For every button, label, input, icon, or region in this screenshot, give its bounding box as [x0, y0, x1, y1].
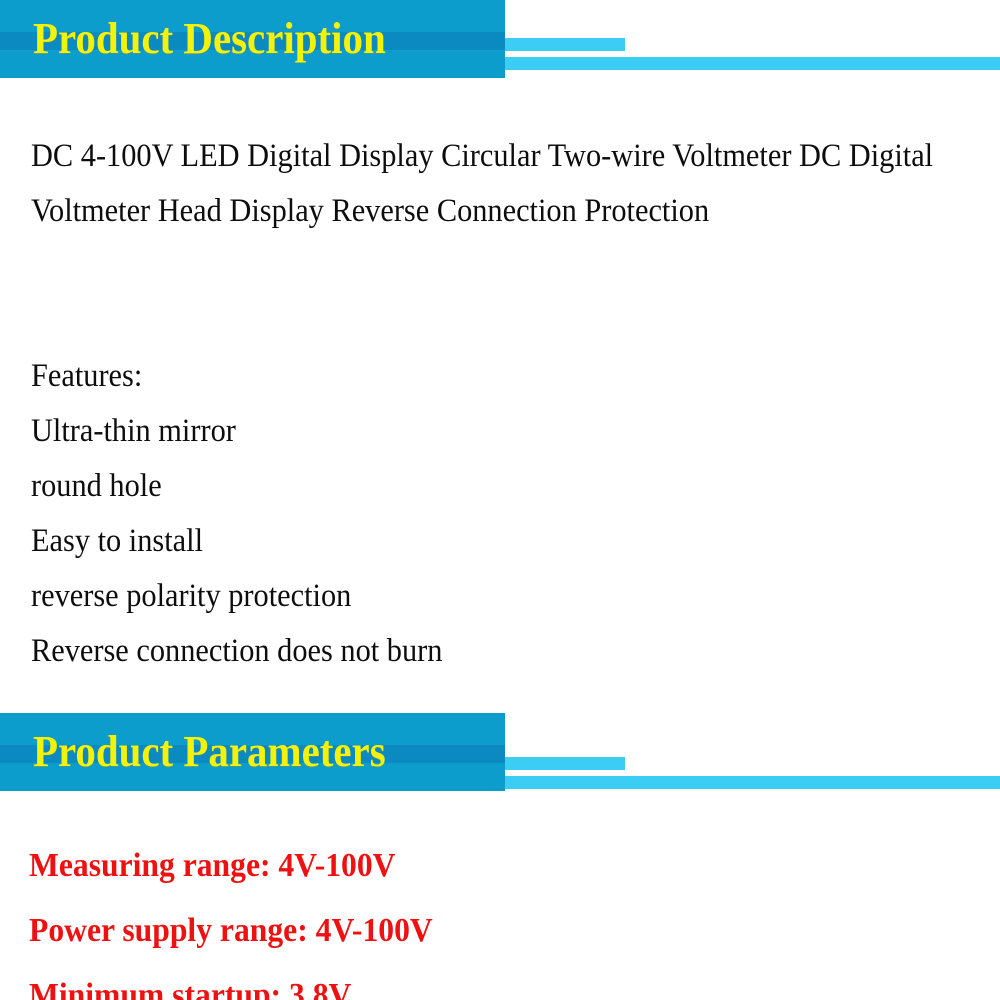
section-banner-description: Product Description: [0, 0, 1000, 90]
list-item: Measuring range: 4V-100V: [29, 833, 433, 898]
features-list: Features: Ultra-thin mirror round hole E…: [31, 349, 478, 679]
list-item: round hole: [31, 459, 442, 514]
section-banner-parameters: Product Parameters: [0, 713, 1000, 803]
list-item: Minimum startup: 3.8V: [29, 963, 433, 1000]
product-detail-page: Product Description DC 4-100V LED Digita…: [0, 0, 1000, 1000]
list-item: Ultra-thin mirror: [31, 404, 442, 459]
list-item: Reverse connection does not burn: [31, 624, 442, 679]
list-item: reverse polarity protection: [31, 569, 442, 624]
features-heading: Features:: [31, 349, 442, 404]
parameters-list: Measuring range: 4V-100V Power supply ra…: [29, 833, 463, 1000]
section-title-description: Product Description: [33, 11, 386, 67]
list-item: Power supply range: 4V-100V: [29, 898, 433, 963]
product-description-paragraph: DC 4-100V LED Digital Display Circular T…: [31, 129, 960, 239]
section-title-parameters: Product Parameters: [33, 724, 386, 780]
list-item: Easy to install: [31, 514, 442, 569]
